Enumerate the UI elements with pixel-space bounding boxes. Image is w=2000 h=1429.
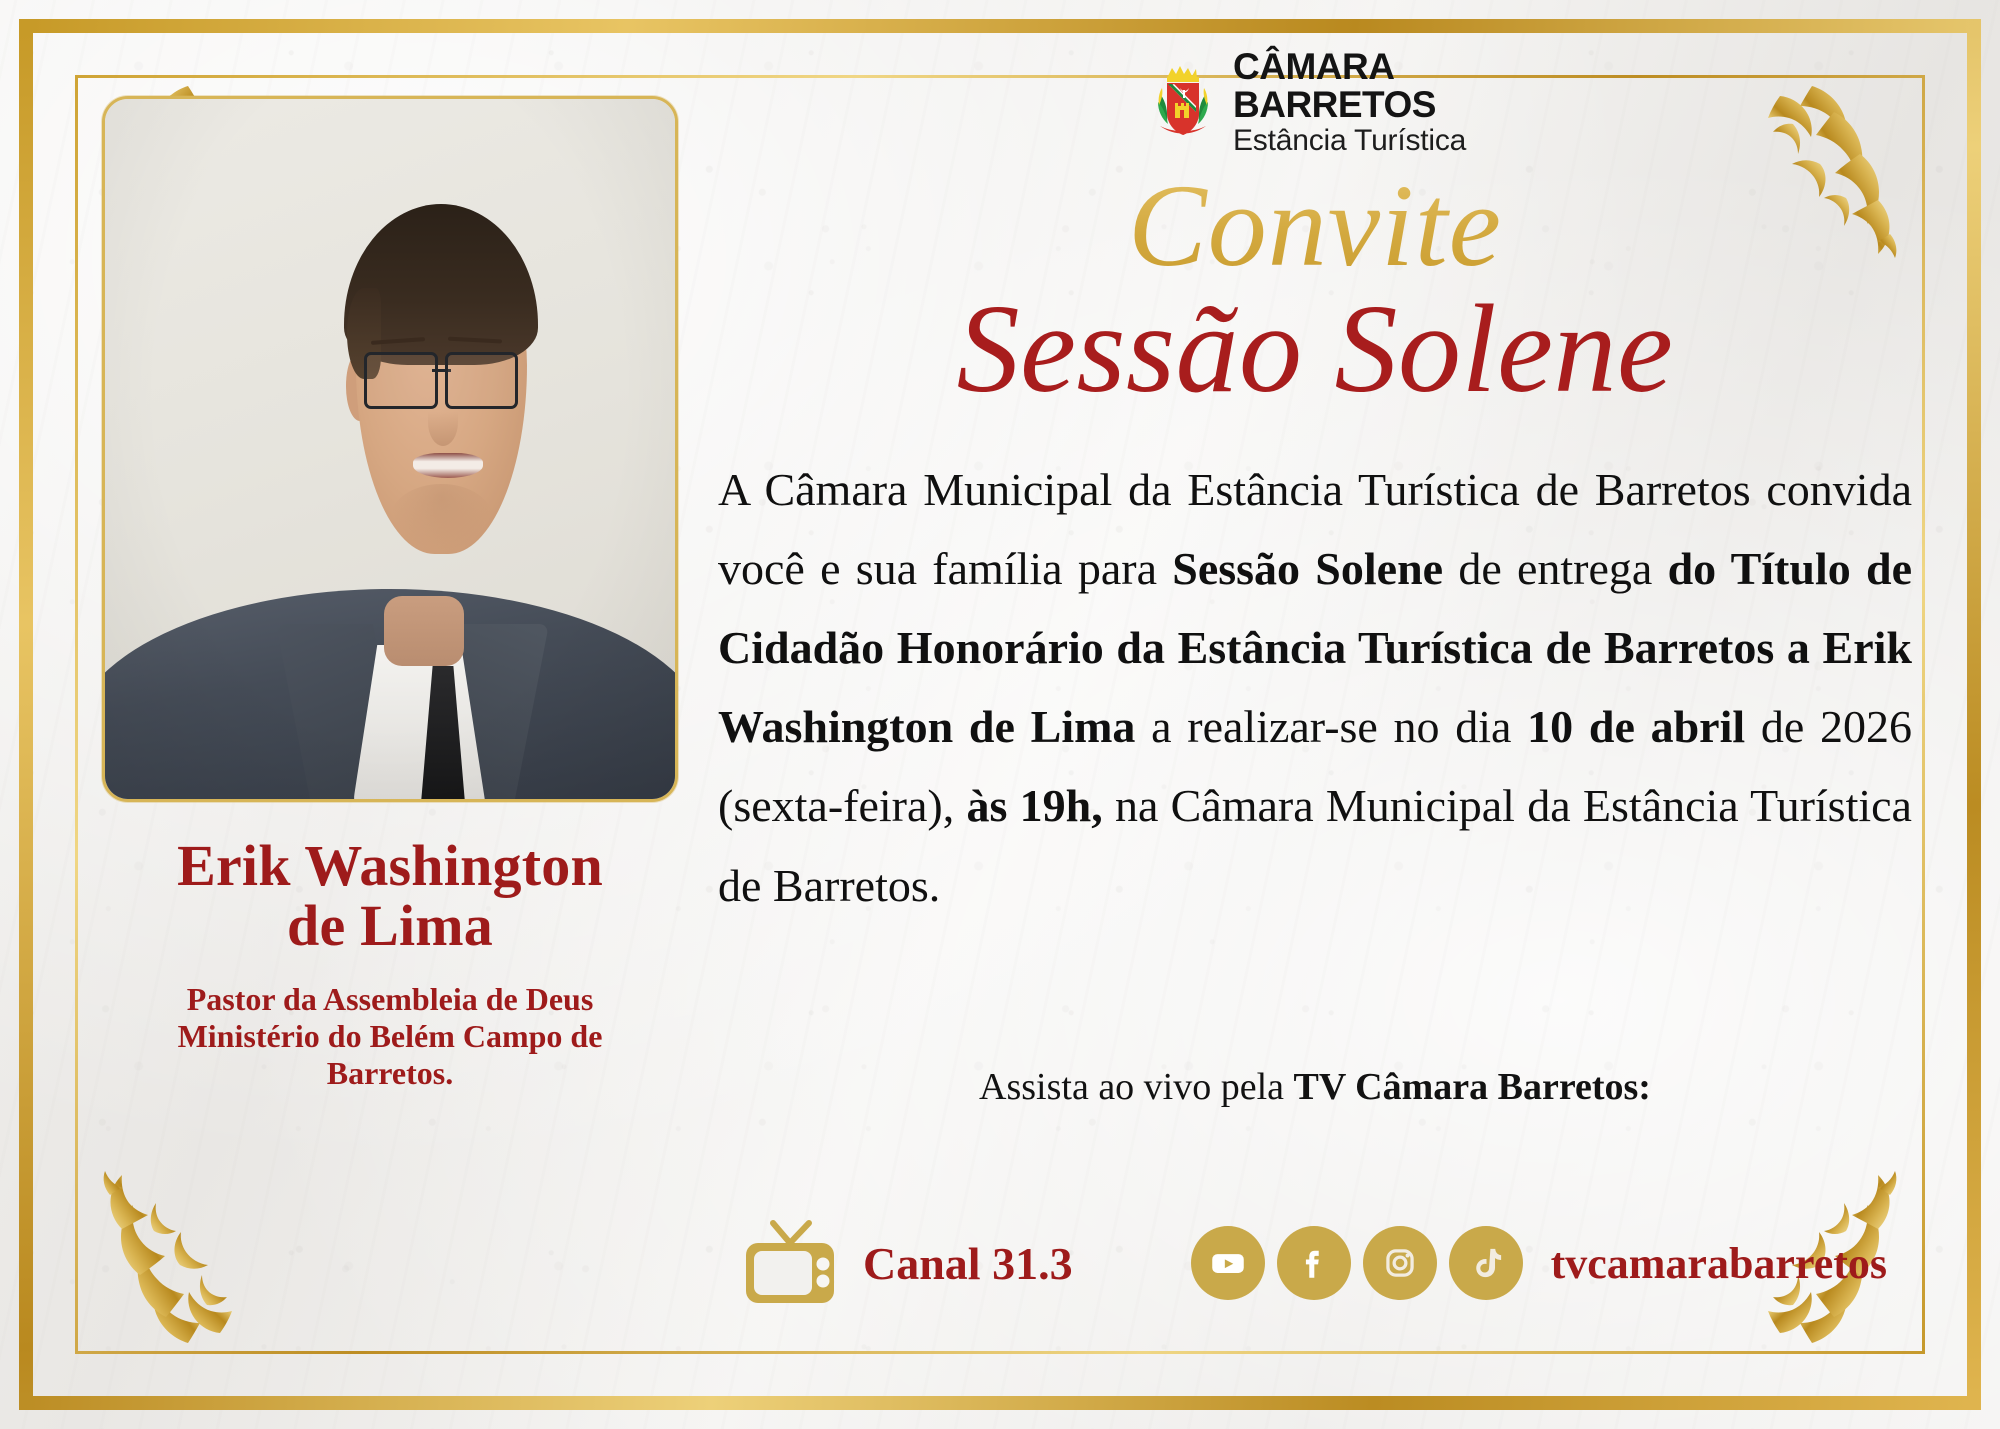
retro-tv-icon: [743, 1220, 837, 1306]
facebook-icon[interactable]: [1277, 1226, 1351, 1300]
honoree-photo-frame: [102, 96, 678, 802]
watch-live-line: Assista ao vivo pela TV Câmara Barretos:: [700, 1065, 1930, 1109]
broadcast-row: Canal 31.3: [700, 1220, 1930, 1306]
body-seg-5: a realizar-se no dia: [1135, 701, 1527, 752]
honoree-panel: Erik Washington de Lima Pastor da Assemb…: [90, 96, 690, 1092]
invitation-body-text: A Câmara Municipal da Estância Turística…: [718, 450, 1912, 925]
honoree-portrait: [105, 99, 675, 799]
title-convite: Convite: [700, 158, 1930, 294]
honoree-role-line2: Ministério do Belém Campo de: [178, 1018, 603, 1054]
honoree-role-line1: Pastor da Assembleia de Deus: [187, 981, 594, 1017]
youtube-icon[interactable]: [1191, 1226, 1265, 1300]
social-handle: tvcamarabarretos: [1551, 1238, 1887, 1289]
body-seg-6-bold: 10 de abril: [1527, 701, 1745, 752]
body-seg-2-bold: Sessão Solene: [1172, 543, 1443, 594]
logo-line-barretos: BARRETOS: [1233, 86, 1466, 123]
body-seg-3: de entrega: [1443, 543, 1668, 594]
logo-line-camara: CÂMARA: [1233, 48, 1466, 85]
honoree-role: Pastor da Assembleia de Deus Ministério …: [178, 981, 603, 1092]
watch-channel-name: TV Câmara Barretos:: [1294, 1066, 1651, 1108]
honoree-role-line3: Barretos.: [327, 1055, 453, 1091]
invitation-content: CÂMARA BARRETOS Estância Turística Convi…: [700, 30, 1930, 1370]
instagram-icon[interactable]: [1363, 1226, 1437, 1300]
logo-wordmark: CÂMARA BARRETOS Estância Turística: [1233, 48, 1466, 156]
channel-number: Canal 31.3: [863, 1237, 1073, 1290]
watch-prefix: Assista ao vivo pela: [979, 1066, 1294, 1108]
title-sessao-solene: Sessão Solene: [700, 278, 1930, 422]
honoree-name-line1: Erik Washington: [177, 833, 603, 898]
camara-barretos-logo: CÂMARA BARRETOS Estância Turística: [1150, 48, 1466, 156]
honoree-name: Erik Washington de Lima: [177, 836, 603, 957]
social-icons: [1191, 1226, 1523, 1300]
body-seg-8-bold: às 19h,: [966, 780, 1102, 831]
honoree-name-line2: de Lima: [287, 893, 493, 958]
barretos-coat-of-arms-icon: [1150, 60, 1216, 144]
invitation-card: Erik Washington de Lima Pastor da Assemb…: [0, 0, 2000, 1429]
tiktok-icon[interactable]: [1449, 1226, 1523, 1300]
logo-line-estancia: Estância Turística: [1233, 126, 1466, 156]
